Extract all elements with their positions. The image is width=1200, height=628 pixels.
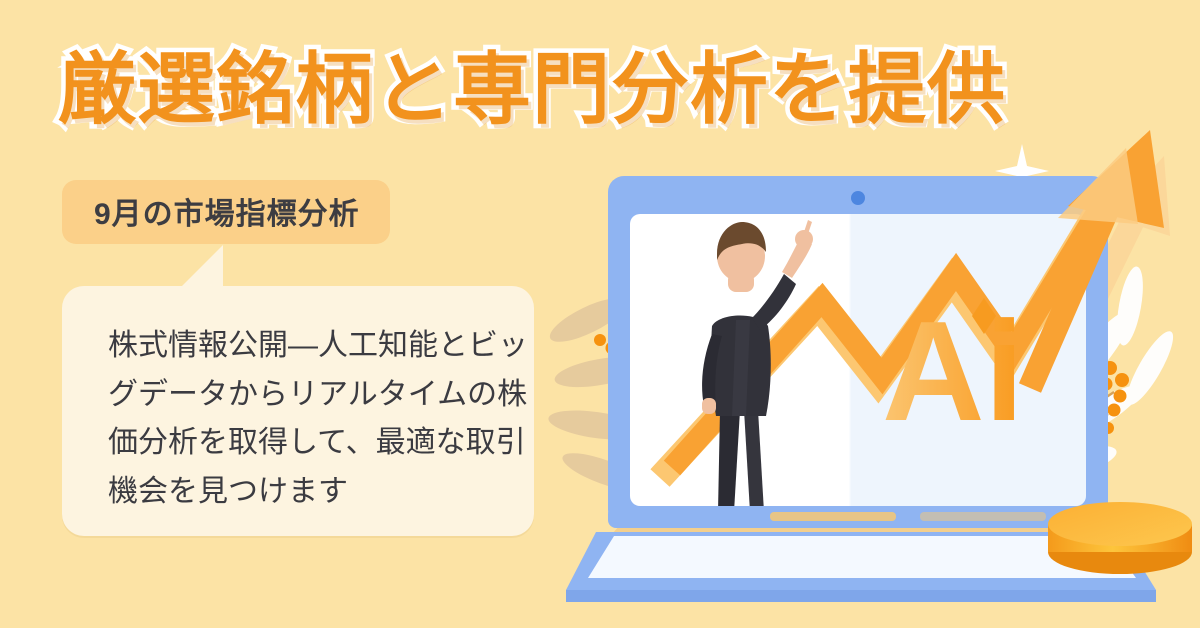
coin-top <box>1048 502 1192 546</box>
gold-coin <box>1048 502 1192 574</box>
banner-canvas: 厳選銘柄と専門分析を提供 9月の市場指標分析 株式情報公開—人工知能とビッグデー… <box>0 0 1200 628</box>
laptop-camera-icon <box>851 191 865 205</box>
laptop-base-front <box>566 590 1156 602</box>
right-hand <box>795 230 813 248</box>
page-title: 厳選銘柄と専門分析を提供 <box>58 48 1006 131</box>
status-badge: 9月の市場指標分析 <box>62 180 390 244</box>
hero-illustration: Ai <box>560 120 1200 628</box>
ai-logo-text: Ai <box>882 292 1024 451</box>
hinge-accent-left <box>770 512 896 521</box>
left-hand <box>702 398 716 414</box>
bubble-body-text: 株式情報公開—人工知能とビッグデータからリアルタイムの株価分析を取得して、最適な… <box>108 322 528 516</box>
bubble-tail-icon <box>175 245 223 293</box>
ai-logo: Ai <box>882 292 1024 451</box>
hinge-accent-right <box>920 512 1046 521</box>
